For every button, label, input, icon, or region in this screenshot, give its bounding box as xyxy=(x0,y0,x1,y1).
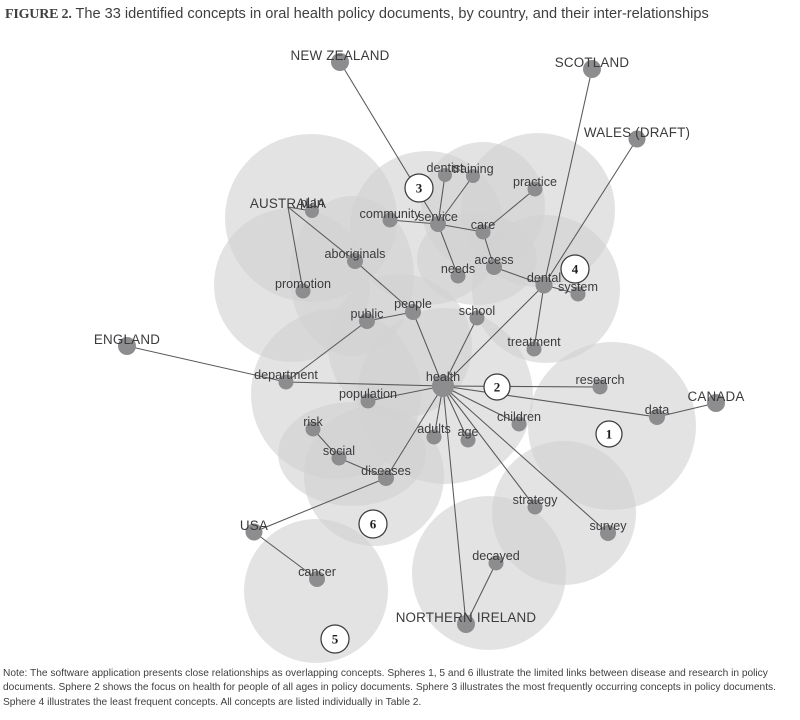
concept-label: population xyxy=(339,387,397,401)
sphere-number-text: 1 xyxy=(606,427,613,442)
concept-label: department xyxy=(254,368,318,382)
concept-label: adults xyxy=(417,422,451,436)
country-label: USA xyxy=(240,518,268,533)
figure-caption-text: The 33 identified concepts in oral healt… xyxy=(72,6,709,22)
sphere-number-text: 2 xyxy=(494,380,501,395)
sphere-number-text: 6 xyxy=(370,517,377,532)
concept-label: treatment xyxy=(507,335,561,349)
concept-label: people xyxy=(394,297,432,311)
figure-number-label: FIGURE 2. xyxy=(5,7,72,22)
concept-label: diseases xyxy=(361,464,411,478)
concept-label: community xyxy=(360,207,422,221)
country-label: CANADA xyxy=(687,389,744,404)
country-label: NEW ZEALAND xyxy=(291,48,390,63)
concept-network-diagram: NEW ZEALANDSCOTLANDWALES (DRAFT)AUSTRALI… xyxy=(0,46,800,664)
concept-label: decayed xyxy=(472,549,520,563)
concept-label: survey xyxy=(589,519,627,533)
concept-label: training xyxy=(452,162,493,176)
concept-label: data xyxy=(645,403,670,417)
concept-label: health xyxy=(426,370,460,384)
concept-label: cancer xyxy=(298,565,336,579)
concept-label: needs xyxy=(441,262,475,276)
country-label: NORTHERN IRELAND xyxy=(396,610,537,625)
concept-label: strategy xyxy=(513,493,559,507)
concept-label: promotion xyxy=(275,277,331,291)
concept-label: public xyxy=(351,307,384,321)
sphere-number-text: 3 xyxy=(416,181,423,196)
concept-label: risk xyxy=(303,415,323,429)
sphere-number-text: 4 xyxy=(572,262,579,277)
concept-label: children xyxy=(497,410,541,424)
concept-label: social xyxy=(323,444,355,458)
sphere-number-text: 5 xyxy=(332,632,339,647)
concept-label: service xyxy=(418,210,458,224)
concept-label: access xyxy=(474,253,513,267)
country-label: ENGLAND xyxy=(94,332,160,347)
concept-label: aboriginals xyxy=(325,247,386,261)
concept-label: dental xyxy=(527,271,561,285)
concept-label: age xyxy=(457,425,478,439)
concept-label: care xyxy=(471,218,496,232)
concept-label: plan xyxy=(300,196,324,210)
concept-label: research xyxy=(576,373,625,387)
country-label: WALES (DRAFT) xyxy=(584,125,690,140)
concept-label: practice xyxy=(513,175,557,189)
figure-note: Note: The software application presents … xyxy=(3,667,797,710)
country-label: SCOTLAND xyxy=(555,55,630,70)
concept-label: school xyxy=(459,304,495,318)
concept-sphere xyxy=(412,496,566,650)
figure-caption: FIGURE 2. The 33 identified concepts in … xyxy=(5,4,791,25)
